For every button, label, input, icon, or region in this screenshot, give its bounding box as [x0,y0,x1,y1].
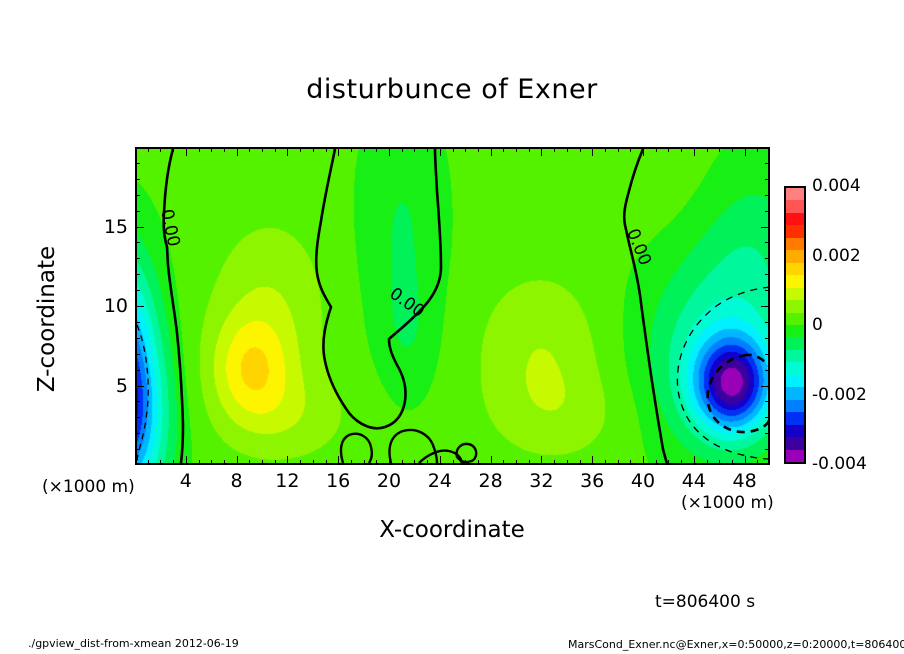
x-tick [541,456,542,465]
x-tick-label: 36 [580,470,604,492]
x-tick [618,460,619,465]
x-tick [554,147,555,152]
x-tick [389,456,390,465]
x-tick [618,147,619,152]
x-tick [287,147,288,156]
x-tick [414,147,415,152]
x-tick [160,460,161,465]
x-tick-label: 20 [377,470,401,492]
x-tick [732,460,733,465]
colorbar-tick-label: 0.002 [812,246,861,266]
x-tick [173,147,174,152]
y-tick [765,179,770,180]
x-tick [389,147,390,156]
x-tick [249,147,250,152]
colorbar[interactable] [784,186,806,464]
y-tick-label: 5 [88,375,128,397]
y-tick [135,227,144,228]
x-tick [529,460,530,465]
y-tick [765,258,770,259]
y-axis-title: Z-coordinate [34,209,60,429]
x-tick-label: 12 [275,470,299,492]
colorbar-band [786,300,804,312]
x-tick [313,147,314,152]
x-tick-label: 48 [733,470,757,492]
x-tick [757,460,758,465]
y-tick [765,354,770,355]
page-title: disturbunce of Exner [0,74,904,105]
y-tick [135,417,140,418]
y-tick [135,195,140,196]
colorbar-band [786,375,804,387]
x-tick [732,147,733,152]
y-tick [765,195,770,196]
x-tick [326,460,327,465]
colorbar-band [786,425,804,437]
x-tick [516,460,517,465]
x-tick [656,147,657,152]
colorbar-band [786,450,804,462]
y-tick [765,433,770,434]
y-tick [765,322,770,323]
x-tick [503,147,504,152]
x-tick [503,460,504,465]
colorbar-band [786,288,804,300]
colorbar-band [786,325,804,337]
time-annotation: t=806400 s [655,592,755,612]
x-tick [630,147,631,152]
x-tick [719,460,720,465]
x-tick [694,456,695,465]
y-tick [761,306,770,307]
x-units-right-label: (×1000 m) [681,493,774,513]
y-tick [135,242,140,243]
x-tick [694,147,695,156]
x-tick-label: 4 [180,470,192,492]
y-tick [135,258,140,259]
x-tick [643,456,644,465]
x-tick [567,460,568,465]
y-tick [765,274,770,275]
x-tick [313,460,314,465]
x-tick [478,460,479,465]
y-tick [765,401,770,402]
y-tick [135,306,144,307]
x-tick [681,460,682,465]
colorbar-tick-label: 0 [812,315,823,335]
x-tick [465,147,466,152]
y-tick [765,449,770,450]
colorbar-tick-label: -0.004 [812,454,867,474]
colorbar-band [786,387,804,399]
x-tick [465,460,466,465]
colorbar-band [786,250,804,262]
x-tick [148,147,149,152]
y-tick [135,370,140,371]
y-tick [135,163,140,164]
x-tick [199,147,200,152]
x-tick [326,147,327,152]
x-tick-label: 32 [529,470,553,492]
x-tick [338,456,339,465]
y-tick [135,179,140,180]
x-tick-label: 24 [428,470,452,492]
colorbar-band [786,400,804,412]
colorbar-band [786,412,804,424]
x-units-left-label: (×1000 m) [42,477,135,497]
x-tick [402,147,403,152]
footer-source-text: MarsCond_Exner.nc@Exner,x=0:50000,z=0:20… [568,638,904,651]
y-tick [135,274,140,275]
y-tick-label: 15 [88,216,128,238]
y-tick [765,338,770,339]
footer-command-text: ./gpview_dist-from-xmean 2012-06-19 [28,637,239,650]
x-tick [453,460,454,465]
x-tick [491,456,492,465]
x-tick [491,147,492,156]
x-tick [630,460,631,465]
colorbar-band [786,225,804,237]
x-tick [376,147,377,152]
x-tick [199,460,200,465]
colorbar-band [786,188,804,200]
x-tick [757,147,758,152]
x-tick [300,147,301,152]
x-tick [580,460,581,465]
x-tick [249,460,250,465]
y-tick [765,370,770,371]
x-tick-label: 44 [682,470,706,492]
x-tick [173,460,174,465]
x-tick [529,147,530,152]
colorbar-tick-label: -0.002 [812,385,867,405]
x-tick [567,147,568,152]
x-tick [211,460,212,465]
x-tick [554,460,555,465]
y-tick [135,354,140,355]
x-tick [148,460,149,465]
x-tick [592,456,593,465]
x-tick [427,147,428,152]
x-tick [414,460,415,465]
colorbar-tick-label: 0.004 [812,176,861,196]
contour-plot-area[interactable] [135,147,770,465]
colorbar-band [786,350,804,362]
x-tick [440,147,441,156]
y-tick [765,290,770,291]
colorbar-band [786,200,804,212]
y-tick [135,386,144,387]
colorbar-band [786,213,804,225]
x-tick [440,456,441,465]
y-tick [135,322,140,323]
x-tick [376,460,377,465]
x-tick [224,460,225,465]
x-tick [262,147,263,152]
y-tick [765,211,770,212]
x-tick [453,147,454,152]
y-tick [765,163,770,164]
x-axis-title: X-coordinate [0,517,904,543]
y-tick-label: 10 [88,295,128,317]
x-tick [300,460,301,465]
x-tick [364,147,365,152]
x-tick [516,147,517,152]
colorbar-band [786,263,804,275]
colorbar-band [786,337,804,349]
y-tick [135,449,140,450]
x-tick [643,147,644,156]
colorbar-band [786,437,804,449]
y-tick [135,401,140,402]
x-tick [719,147,720,152]
x-tick [478,147,479,152]
x-tick-label: 8 [231,470,243,492]
y-tick [135,290,140,291]
colorbar-band [786,362,804,374]
colorbar-band [786,275,804,287]
x-tick-label: 40 [631,470,655,492]
x-tick [605,460,606,465]
x-tick-label: 28 [479,470,503,492]
x-tick [224,147,225,152]
x-tick [668,460,669,465]
x-tick [656,460,657,465]
colorbar-band [786,238,804,250]
x-tick [541,147,542,156]
x-tick [605,147,606,152]
y-tick [135,338,140,339]
x-tick [668,147,669,152]
colorbar-band [786,313,804,325]
x-tick [592,147,593,156]
x-tick [275,147,276,152]
x-tick [287,456,288,465]
x-tick [580,147,581,152]
y-tick [135,433,140,434]
x-tick [275,460,276,465]
x-tick [237,456,238,465]
x-tick [211,147,212,152]
x-tick [351,147,352,152]
x-tick [402,460,403,465]
x-tick [707,460,708,465]
x-tick-label: 16 [326,470,350,492]
x-tick [745,147,746,156]
y-tick [765,242,770,243]
x-tick [351,460,352,465]
x-tick [186,147,187,156]
y-tick [761,227,770,228]
x-tick [364,460,365,465]
x-tick [338,147,339,156]
x-tick [262,460,263,465]
x-tick [745,456,746,465]
x-tick [681,147,682,152]
x-tick [237,147,238,156]
x-tick [186,456,187,465]
x-tick [427,460,428,465]
y-tick [761,386,770,387]
x-tick [160,147,161,152]
scalar-field-canvas [137,149,768,463]
y-tick [135,211,140,212]
x-tick [707,147,708,152]
y-tick [765,417,770,418]
